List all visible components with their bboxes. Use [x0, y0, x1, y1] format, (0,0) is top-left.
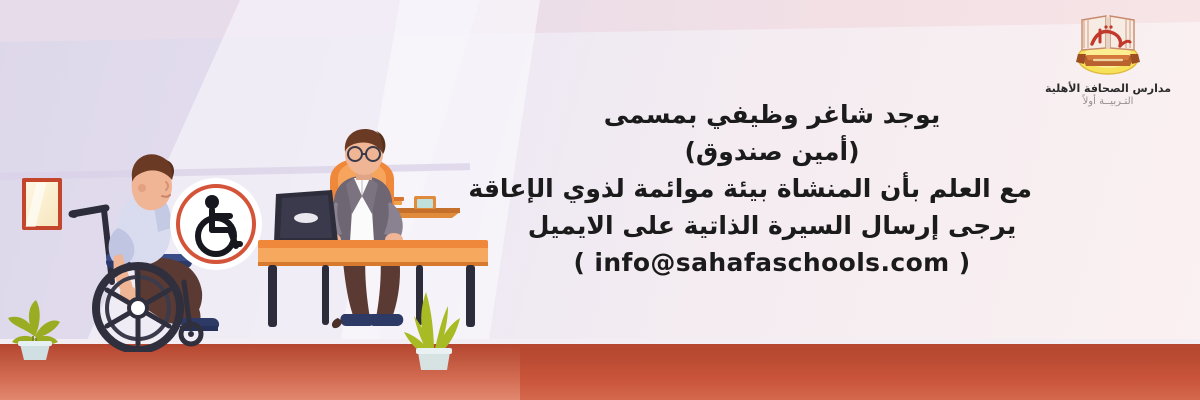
school-name: مدارس الصحافة الأهلية [1038, 82, 1178, 95]
potted-plant-left [6, 280, 64, 360]
accessibility-sign-ring [176, 184, 256, 264]
floor [0, 344, 1200, 400]
job-vacancy-banner: يوجد شاغر وظيفي بمسمى (أمين صندوق) مع ال… [0, 0, 1200, 400]
accessibility-sign [170, 178, 262, 270]
school-logo: مدارس الصحافة الأهلية التـربيــة أولاً [1038, 8, 1178, 107]
picture-frame [22, 178, 62, 230]
school-tagline: التـربيــة أولاً [1038, 96, 1178, 107]
announcement-line-1: يوجد شاغر وظيفي بمسمى [512, 96, 1032, 133]
announcement-line-3: مع العلم بأن المنشاة بيئة موائمة لذوي ال… [512, 170, 1032, 207]
logo-emblem [1066, 8, 1150, 78]
potted-plant-right [398, 284, 468, 370]
contact-email[interactable]: ( info@sahafaschools.com ) [512, 244, 1032, 281]
announcement-line-2: (أمين صندوق) [512, 133, 1032, 170]
announcement-text: يوجد شاغر وظيفي بمسمى (أمين صندوق) مع ال… [512, 96, 1032, 281]
announcement-line-4: يرجى إرسال السيرة الذاتية على الايميل [512, 207, 1032, 244]
open-book-emblem-icon [1066, 8, 1150, 78]
